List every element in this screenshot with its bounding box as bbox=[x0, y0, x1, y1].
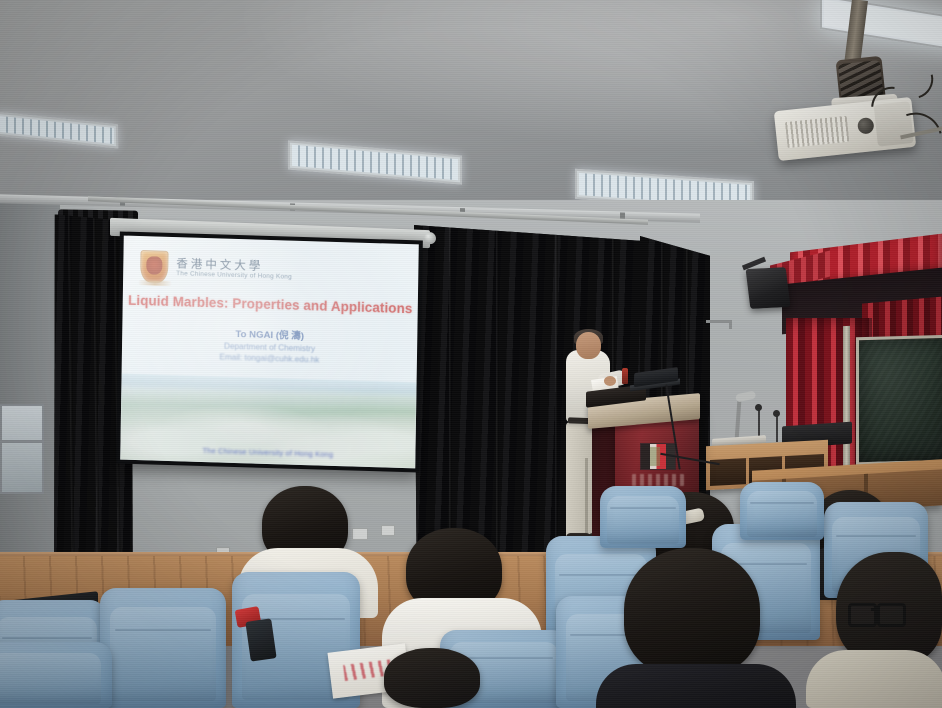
seat-armrest bbox=[245, 618, 276, 661]
water-bottle bbox=[622, 368, 628, 384]
cuhk-crest-icon bbox=[140, 250, 169, 283]
attendee-head bbox=[624, 548, 760, 676]
projection-screen[interactable]: 香港中文大學 The Chinese University of Hong Ko… bbox=[116, 231, 423, 472]
projector-vent-icon bbox=[785, 116, 849, 148]
side-window bbox=[0, 404, 44, 494]
wall-outlet bbox=[352, 528, 368, 540]
screen-pull-knob-icon[interactable] bbox=[424, 232, 436, 244]
lectern-inscription bbox=[632, 474, 684, 486]
projected-slide: 香港中文大學 The Chinese University of Hong Ko… bbox=[120, 236, 419, 469]
eyeglasses-icon bbox=[848, 603, 904, 621]
presenter-head bbox=[576, 332, 601, 359]
microphone-head-icon bbox=[755, 404, 762, 411]
slide-title: Liquid Marbles: Properties and Applicati… bbox=[123, 293, 418, 317]
presenter-hand bbox=[604, 376, 616, 386]
attendee-shoulders bbox=[806, 650, 942, 708]
wall-outlet bbox=[381, 525, 395, 536]
wall-hook bbox=[706, 320, 732, 323]
wall-loudspeaker bbox=[746, 267, 791, 309]
auditorium-seat[interactable] bbox=[100, 588, 226, 708]
lecture-hall-photo: 香港中文大學 The Chinese University of Hong Ko… bbox=[0, 0, 942, 708]
attendee-shoulders bbox=[596, 664, 796, 708]
auditorium-seat[interactable] bbox=[600, 486, 686, 548]
microphone-stand bbox=[776, 414, 778, 442]
blackboard-frame-post bbox=[843, 326, 850, 471]
chalkboard bbox=[856, 335, 942, 466]
slide-university-header: 香港中文大學 The Chinese University of Hong Ko… bbox=[140, 250, 292, 287]
auditorium-seat[interactable] bbox=[740, 482, 824, 540]
projector-lens-icon bbox=[857, 117, 875, 135]
microphone-head-icon bbox=[773, 410, 780, 417]
auditorium-seat[interactable] bbox=[0, 642, 112, 708]
attendee-head bbox=[384, 648, 480, 708]
